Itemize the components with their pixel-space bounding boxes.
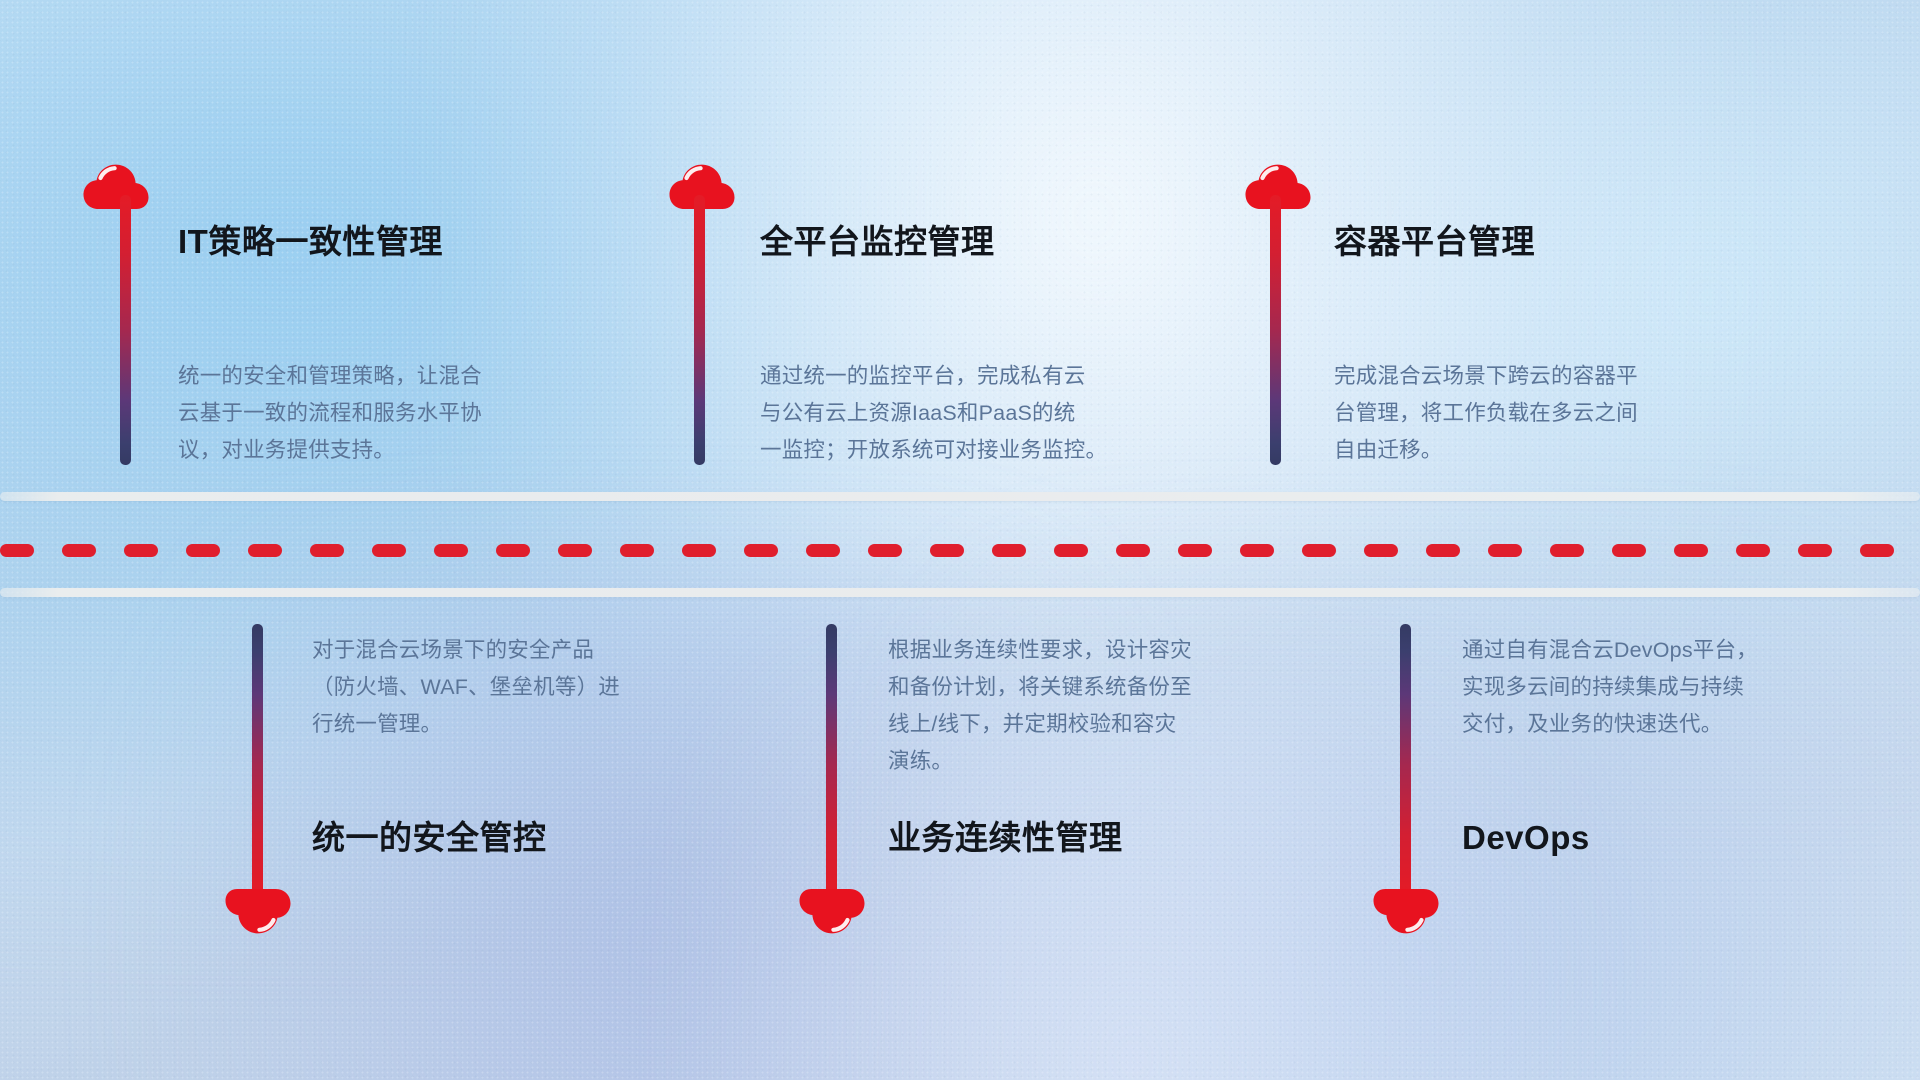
connector-bar [826,624,837,894]
panel-title: 统一的安全管控 [312,818,547,858]
divider-dash [496,544,530,557]
divider-dash [1116,544,1150,557]
panel-body: 对于混合云场景下的安全产品 （防火墙、WAF、堡垒机等）进 行统一管理。 [312,632,752,743]
divider-dash [1550,544,1584,557]
cloud-icon [224,888,292,938]
divider-dash [558,544,592,557]
divider-dash [868,544,902,557]
divider-dash [186,544,220,557]
cloud-icon [82,160,150,210]
divider-dash [1612,544,1646,557]
divider-dash [372,544,406,557]
connector-bar [1400,624,1411,894]
connector-bar [120,195,131,465]
divider-dash [682,544,716,557]
panel-title: 业务连续性管理 [888,818,1123,858]
divider-dash [310,544,344,557]
divider-dash [806,544,840,557]
panel-body: 通过统一的监控平台，完成私有云 与公有云上资源IaaS和PaaS的统 一监控；开… [760,358,1210,469]
divider-dash [0,544,34,557]
panel-body: 通过自有混合云DevOps平台， 实现多云间的持续集成与持续 交付，及业务的快速… [1462,632,1902,743]
divider-dash [434,544,468,557]
cloud-icon [798,888,866,938]
divider-rail-top [0,492,1920,501]
panel-title: IT策略一致性管理 [178,222,443,262]
divider-dash [1178,544,1212,557]
divider-dash [1488,544,1522,557]
divider-dash [248,544,282,557]
divider-dash [620,544,654,557]
divider-dash [124,544,158,557]
divider-dash [1736,544,1770,557]
infographic-canvas: IT策略一致性管理 统一的安全和管理策略，让混合 云基于一致的流程和服务水平协 … [0,0,1920,1080]
connector-bar [252,624,263,894]
connector-bar [694,195,705,465]
divider-dash [1240,544,1274,557]
panel-title: DevOps [1462,818,1590,858]
divider-dash [1426,544,1460,557]
divider-dash [1302,544,1336,557]
divider-dash [930,544,964,557]
panel-title: 容器平台管理 [1334,222,1535,262]
divider-dash [1054,544,1088,557]
divider-rail-bottom [0,588,1920,597]
divider-dash [1364,544,1398,557]
cloud-icon [1372,888,1440,938]
panel-title: 全平台监控管理 [760,222,995,262]
divider-dash [1798,544,1832,557]
divider-dashed-line [0,544,1920,557]
divider-dash [1674,544,1708,557]
divider-dash [62,544,96,557]
panel-body: 根据业务连续性要求，设计容灾 和备份计划，将关键系统备份至 线上/线下，并定期校… [888,632,1328,780]
divider-dash [992,544,1026,557]
panel-body: 完成混合云场景下跨云的容器平 台管理，将工作负载在多云之间 自由迁移。 [1334,358,1774,469]
connector-bar [1270,195,1281,465]
divider-dash [744,544,778,557]
divider-dash [1860,544,1894,557]
panel-body: 统一的安全和管理策略，让混合 云基于一致的流程和服务水平协 议，对业务提供支持。 [178,358,618,469]
